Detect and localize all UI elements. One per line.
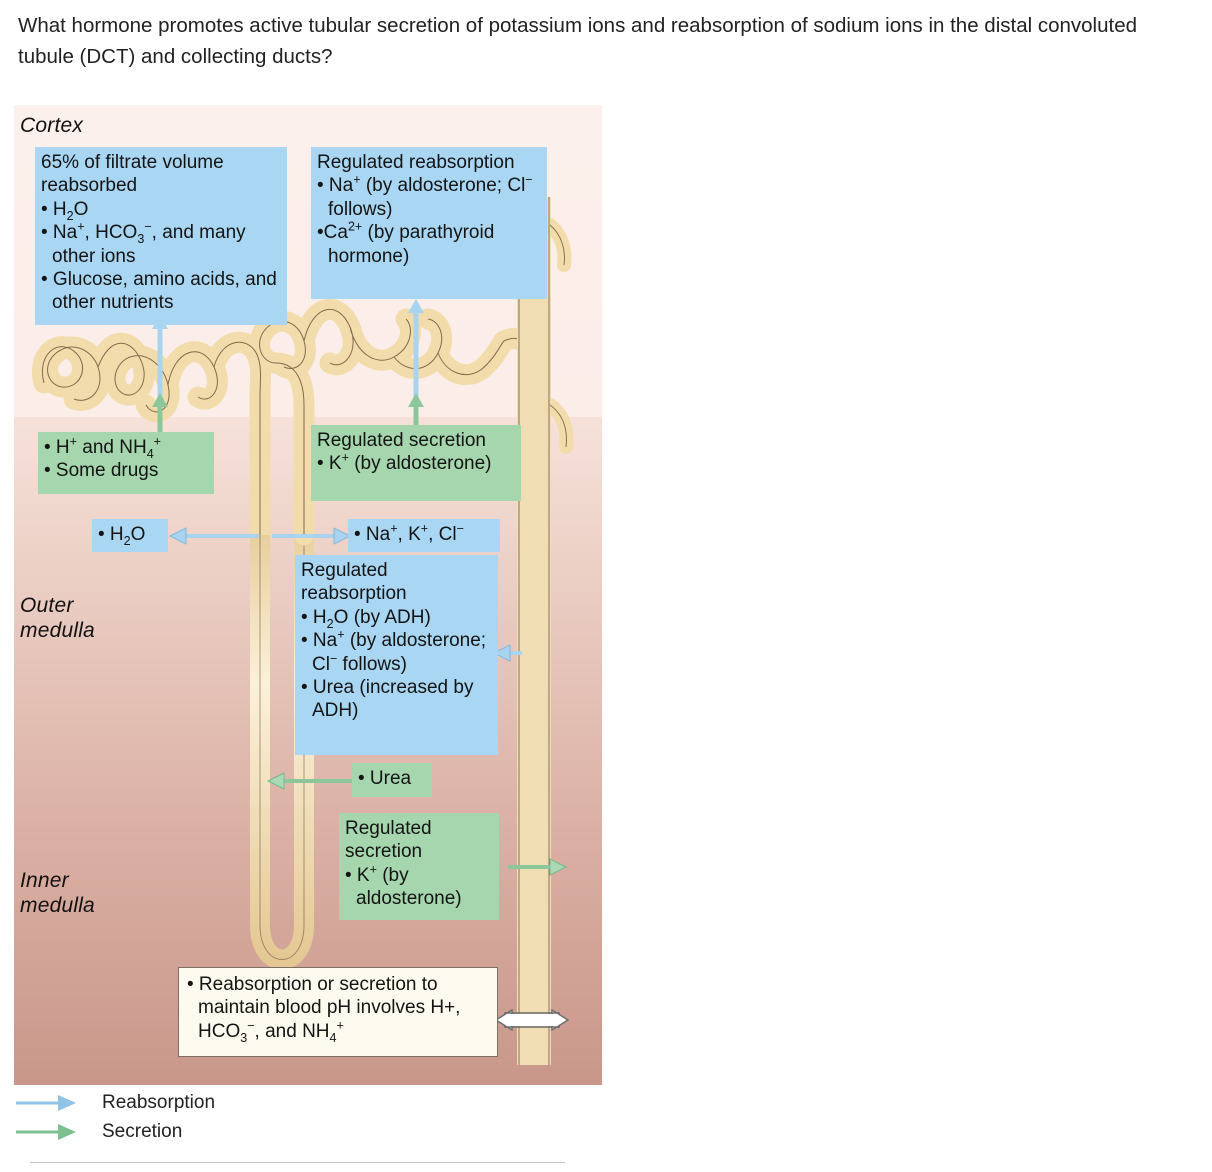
box-ph-balance: • Reabsorption or secretion to maintain …	[178, 967, 498, 1057]
zone-label-inner-medulla-line1: Inner	[20, 869, 69, 892]
box-duct-reabsorption-item-1: • Na+ (by aldosterone; Cl− follows)	[301, 629, 492, 676]
box-loop-ions-item-0: • Na+, K+, Cl−	[354, 524, 464, 545]
zone-label-inner-medulla-line2: medulla	[20, 894, 95, 917]
box-urea-item-0: • Urea	[358, 768, 411, 789]
box-urea: • Urea	[352, 763, 432, 797]
box-duct-reabsorption-heading: Regulated reabsorption	[301, 560, 407, 604]
box-pct-secretion: • H+ and NH4+ • Some drugs	[38, 432, 214, 494]
box-pct-reabsorption: 65% of filtrate volume reabsorbed • H2O …	[35, 147, 287, 325]
legend: Reabsorption Secretion	[14, 1088, 414, 1146]
box-pct-secretion-item-1: • Some drugs	[44, 459, 208, 482]
box-inner-secretion-item-0: • K+ (by aldosterone)	[345, 864, 493, 911]
question-text: What hormone promotes active tubular sec…	[18, 10, 1198, 72]
section-divider	[30, 1162, 565, 1163]
box-dct-reabsorption-item-1: •Ca2+ (by parathyroid hormone)	[317, 221, 541, 268]
box-loop-water-item-0: • H2O	[98, 524, 145, 545]
box-pct-reabsorption-item-2: • Glucose, amino acids, and other nutrie…	[41, 268, 281, 315]
box-dct-reabsorption: Regulated reabsorption • Na+ (by aldoste…	[311, 147, 547, 299]
zone-label-cortex: Cortex	[20, 113, 83, 138]
box-pct-reabsorption-item-0: • H2O	[41, 198, 281, 221]
box-duct-reabsorption: Regulated reabsorption • H2O (by ADH) • …	[295, 555, 498, 755]
box-dct-secretion: Regulated secretion • K+ (by aldosterone…	[311, 425, 521, 501]
zone-label-outer-medulla-line1: Outer	[20, 594, 74, 617]
box-duct-reabsorption-item-2: • Urea (increased by ADH)	[301, 676, 492, 723]
box-dct-reabsorption-heading: Regulated reabsorption	[317, 152, 515, 173]
box-dct-secretion-heading: Regulated secretion	[317, 430, 486, 451]
legend-item-secretion: Secretion	[14, 1117, 414, 1146]
box-dct-reabsorption-item-0: • Na+ (by aldosterone; Cl− follows)	[317, 174, 541, 221]
box-inner-secretion-heading: Regulated secretion	[345, 818, 432, 862]
zone-label-inner-medulla: Inner medulla	[20, 868, 95, 918]
legend-label-reabsorption: Reabsorption	[102, 1092, 215, 1114]
box-loop-water: • H2O	[92, 519, 168, 552]
box-loop-ions: • Na+, K+, Cl−	[348, 519, 500, 552]
box-dct-secretion-item-0: • K+ (by aldosterone)	[317, 452, 515, 475]
zone-label-outer-medulla-line2: medulla	[20, 619, 95, 642]
box-pct-reabsorption-item-1: • Na+, HCO3−, and many other ions	[41, 221, 281, 268]
legend-label-secretion: Secretion	[102, 1121, 182, 1143]
box-inner-secretion: Regulated secretion • K+ (by aldosterone…	[339, 813, 499, 920]
arrow-right-icon	[14, 1123, 80, 1141]
box-pct-reabsorption-heading: 65% of filtrate volume reabsorbed	[41, 152, 224, 196]
arrow-right-icon	[14, 1094, 80, 1112]
box-pct-secretion-item-0: • H+ and NH4+	[44, 436, 208, 459]
box-ph-balance-item-0: • Reabsorption or secretion to maintain …	[187, 973, 489, 1043]
legend-item-reabsorption: Reabsorption	[14, 1088, 414, 1117]
box-duct-reabsorption-item-0: • H2O (by ADH)	[301, 606, 492, 629]
zone-label-outer-medulla: Outer medulla	[20, 593, 95, 643]
nephron-diagram: Cortex Outer medulla Inner medulla 65% o…	[14, 105, 602, 1085]
